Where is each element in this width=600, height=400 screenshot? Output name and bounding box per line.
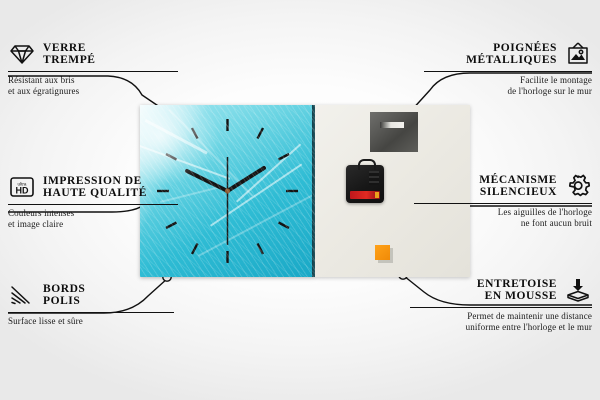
movement-vents: [369, 171, 379, 185]
feature-header: VERRE TREMPÉ: [8, 40, 198, 68]
foam-spacer-icon: [564, 276, 592, 304]
feature-poignees-metalliques: POIGNÉES MÉTALLIQUES Facilite le montage…: [402, 40, 592, 96]
feature-bords-polis: BORDS POLIS Surface lisse et sûre: [8, 281, 198, 327]
hanging-loop: [358, 159, 376, 170]
feature-title: MÉCANISME SILENCIEUX: [479, 174, 557, 199]
battery-terminal: [375, 192, 379, 198]
aa-battery: [350, 191, 380, 199]
feature-entretoise-mousse: ENTRETOISE EN MOUSSE Permet de maintenir…: [402, 276, 592, 332]
diamond-icon: [8, 40, 36, 68]
svg-text:HD: HD: [16, 186, 29, 196]
feature-divider: [8, 312, 174, 313]
feature-header: MÉCANISME SILENCIEUX: [402, 172, 592, 200]
feature-verre-trempe: VERRE TREMPÉ Résistant aux bris et aux é…: [8, 40, 198, 96]
feature-title: BORDS POLIS: [43, 283, 85, 308]
feature-description: Couleurs intenses et image claire: [8, 208, 198, 229]
clock-center-cap: [225, 188, 230, 193]
ultra-hd-icon: ultra HD: [8, 173, 36, 201]
feature-description: Permet de maintenir une distance uniform…: [402, 311, 592, 332]
feature-description: Facilite le montage de l'horloge sur le …: [402, 75, 592, 96]
feature-description: Résistant aux bris et aux égratignures: [8, 75, 198, 96]
feature-divider: [8, 71, 178, 72]
hanger-slot: [380, 122, 404, 128]
feature-impression-hd: ultra HD IMPRESSION DE HAUTE QUALITÉ Cou…: [8, 173, 198, 229]
feature-title: POIGNÉES MÉTALLIQUES: [466, 42, 557, 67]
feature-divider: [8, 204, 178, 205]
framed-picture-icon: [564, 40, 592, 68]
metal-hanger-plate: [370, 112, 418, 152]
gear-icon: [564, 172, 592, 200]
feature-title: VERRE TREMPÉ: [43, 42, 96, 67]
feature-mecanisme-silencieux: MÉCANISME SILENCIEUX Les aiguilles de l'…: [402, 172, 592, 228]
minute-hand: [228, 168, 265, 191]
feature-title: IMPRESSION DE HAUTE QUALITÉ: [43, 175, 147, 200]
clock-movement: [346, 165, 384, 203]
feature-header: BORDS POLIS: [8, 281, 198, 309]
polished-edges-icon: [8, 281, 36, 309]
feature-divider: [410, 307, 592, 308]
feature-description: Les aiguilles de l'horloge ne font aucun…: [402, 207, 592, 228]
feature-title: ENTRETOISE EN MOUSSE: [477, 278, 557, 303]
foam-spacer-pad: [375, 245, 390, 260]
feature-divider: [424, 71, 592, 72]
feature-divider: [414, 203, 592, 204]
feature-header: POIGNÉES MÉTALLIQUES: [402, 40, 592, 68]
infographic-canvas: VERRE TREMPÉ Résistant aux bris et aux é…: [0, 0, 600, 400]
feature-header: ENTRETOISE EN MOUSSE: [402, 276, 592, 304]
feature-header: ultra HD IMPRESSION DE HAUTE QUALITÉ: [8, 173, 198, 201]
feature-description: Surface lisse et sûre: [8, 316, 198, 327]
